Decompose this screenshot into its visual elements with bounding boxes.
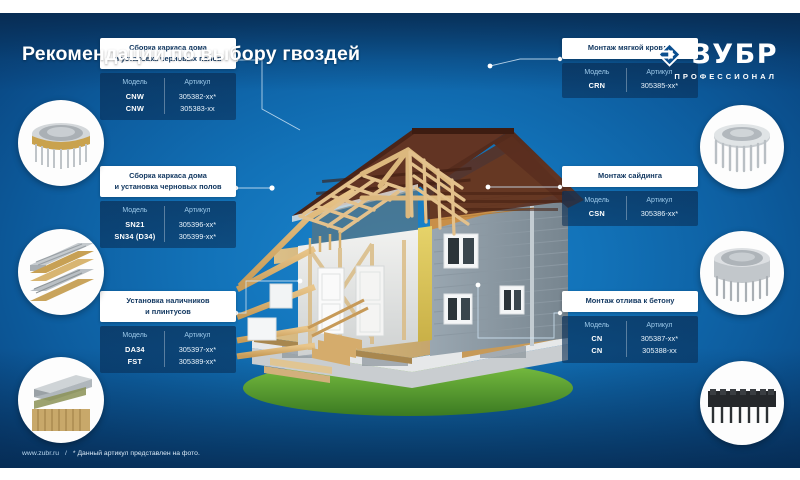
- zubr-diamond-arrow-icon: [656, 41, 683, 68]
- brand-logo: ЗУБР ПРОФЕССИОНАЛ: [656, 41, 778, 81]
- card-spec-body: Модель Артикул CN 305387-хх* CN 305388-х…: [562, 316, 698, 363]
- card-title-line-2: и установка черновых полов: [104, 182, 232, 193]
- page-title: Рекомендации по выбору гвоздей: [22, 43, 360, 66]
- table-header-row: Модель Артикул: [568, 196, 692, 208]
- table-row: DA34 305397-хх*: [106, 343, 230, 355]
- card-title: Монтаж отлива к бетону: [562, 291, 698, 312]
- card-concrete-flashing-mounting[interactable]: Монтаж отлива к бетону Модель Артикул CN…: [562, 291, 698, 363]
- cell-model: CNW: [106, 90, 164, 102]
- table-header-row: Модель Артикул: [568, 321, 692, 333]
- column-header-model: Модель: [568, 321, 626, 333]
- footer: www.zubr.ru / * Данный артикул представл…: [22, 450, 200, 457]
- cell-model: CNW: [106, 102, 164, 114]
- cell-model: FST: [106, 355, 164, 367]
- logo-tagline: ПРОФЕССИОНАЛ: [674, 72, 777, 81]
- cell-model: DA34: [106, 343, 164, 355]
- logo-wordmark: ЗУБР: [692, 41, 778, 68]
- spec-table: Модель Артикул DA34 305397-хх* FST 30538…: [106, 331, 230, 367]
- cell-article: 305386-хх*: [626, 208, 692, 220]
- card-title-line-1: Монтаж сайдинга: [566, 171, 694, 182]
- product-image-roofing-coil-nails: [700, 105, 784, 189]
- coil-nails-icon: [18, 100, 104, 186]
- spec-table: Модель Артикул SN21 305396-хх* SN34 (D34…: [106, 206, 230, 242]
- cell-model: SN21: [106, 218, 164, 230]
- column-header-model: Модель: [568, 196, 626, 208]
- footer-separator: /: [65, 450, 67, 457]
- cell-article: 305397-хх*: [164, 343, 230, 355]
- table-row: CSN 305386-хх*: [568, 208, 692, 220]
- product-image-siding-coil-nails: [700, 231, 784, 315]
- column-header-model: Модель: [106, 78, 164, 90]
- table-row: CN 305387-хх*: [568, 333, 692, 345]
- table-row: CNW 305383-хх: [106, 102, 230, 114]
- column-header-model: Модель: [106, 206, 164, 218]
- card-spec-body: Модель Артикул SN21 305396-хх* SN34 (D34…: [100, 201, 236, 248]
- cell-article: 305383-хх: [164, 102, 230, 114]
- brad-nails-icon: [18, 357, 104, 443]
- cell-model: CN: [568, 345, 626, 357]
- strip-nails-icon: [18, 229, 104, 315]
- card-frame-assembly-subfloor-strip[interactable]: Сборка каркаса дома и установка черновых…: [100, 166, 236, 248]
- siding-coil-nails-icon: [700, 231, 784, 315]
- spec-table: Модель Артикул CNW 305382-хх* CNW 305383…: [106, 78, 230, 114]
- column-header-model: Модель: [568, 68, 626, 80]
- footer-url[interactable]: www.zubr.ru: [22, 450, 59, 457]
- table-header-row: Модель Артикул: [106, 206, 230, 218]
- card-title-line-1: Установка наличников: [104, 296, 232, 307]
- table-header-row: Модель Артикул: [106, 331, 230, 343]
- table-row: SN21 305396-хх*: [106, 218, 230, 230]
- poster-background: Рекомендации по выбору гвоздей ЗУБР ПРОФ…: [0, 13, 800, 468]
- roofing-coil-nails-icon: [700, 105, 784, 189]
- cell-article: 305382-хх*: [164, 90, 230, 102]
- card-title-line-1: Сборка каркаса дома: [104, 171, 232, 182]
- column-header-article: Артикул: [626, 321, 692, 333]
- column-header-article: Артикул: [626, 196, 692, 208]
- product-image-concrete-nails-strip: [700, 361, 784, 445]
- cell-article: 305389-хх*: [164, 355, 230, 367]
- card-siding-mounting[interactable]: Монтаж сайдинга Модель Артикул CSN 30538…: [562, 166, 698, 226]
- cell-article: 305385-хх*: [626, 80, 692, 92]
- card-title-line-2: и плинтусов: [104, 307, 232, 318]
- cell-model: CRN: [568, 80, 626, 92]
- table-row: CRN 305385-хх*: [568, 80, 692, 92]
- cell-article: 305388-хх: [626, 345, 692, 357]
- card-spec-body: Модель Артикул CNW 305382-хх* CNW 305383…: [100, 73, 236, 120]
- cutaway-frame-house-illustration: [212, 88, 592, 418]
- cell-model: SN34 (D34): [106, 230, 164, 242]
- cell-model: CN: [568, 333, 626, 345]
- footer-note: * Данный артикул представлен на фото.: [73, 450, 200, 457]
- column-header-model: Модель: [106, 331, 164, 343]
- card-spec-body: Модель Артикул DA34 305397-хх* FST 30538…: [100, 326, 236, 373]
- column-header-article: Артикул: [164, 78, 230, 90]
- table-header-row: Модель Артикул: [106, 78, 230, 90]
- table-row: FST 305389-хх*: [106, 355, 230, 367]
- card-title: Монтаж сайдинга: [562, 166, 698, 187]
- column-header-article: Артикул: [164, 206, 230, 218]
- infographic-poster: Рекомендации по выбору гвоздей ЗУБР ПРОФ…: [0, 0, 800, 480]
- product-image-coil-nails: [18, 100, 104, 186]
- spec-table: Модель Артикул CSN 305386-хх*: [568, 196, 692, 220]
- cell-article: 305399-хх*: [164, 230, 230, 242]
- product-image-brad-nails: [18, 357, 104, 443]
- card-title: Сборка каркаса дома и установка черновых…: [100, 166, 236, 197]
- cell-model: CSN: [568, 208, 626, 220]
- cell-article: 305396-хх*: [164, 218, 230, 230]
- spec-table: Модель Артикул CN 305387-хх* CN 305388-х…: [568, 321, 692, 357]
- table-row: CNW 305382-хх*: [106, 90, 230, 102]
- card-title-line-1: Монтаж отлива к бетону: [566, 296, 694, 307]
- card-title: Установка наличников и плинтусов: [100, 291, 236, 322]
- product-image-strip-nails: [18, 229, 104, 315]
- card-casing-skirting[interactable]: Установка наличников и плинтусов Модель …: [100, 291, 236, 373]
- table-row: CN 305388-хх: [568, 345, 692, 357]
- cell-article: 305387-хх*: [626, 333, 692, 345]
- card-spec-body: Модель Артикул CSN 305386-хх*: [562, 191, 698, 226]
- table-row: SN34 (D34) 305399-хх*: [106, 230, 230, 242]
- column-header-article: Артикул: [164, 331, 230, 343]
- concrete-nails-strip-icon: [700, 361, 784, 445]
